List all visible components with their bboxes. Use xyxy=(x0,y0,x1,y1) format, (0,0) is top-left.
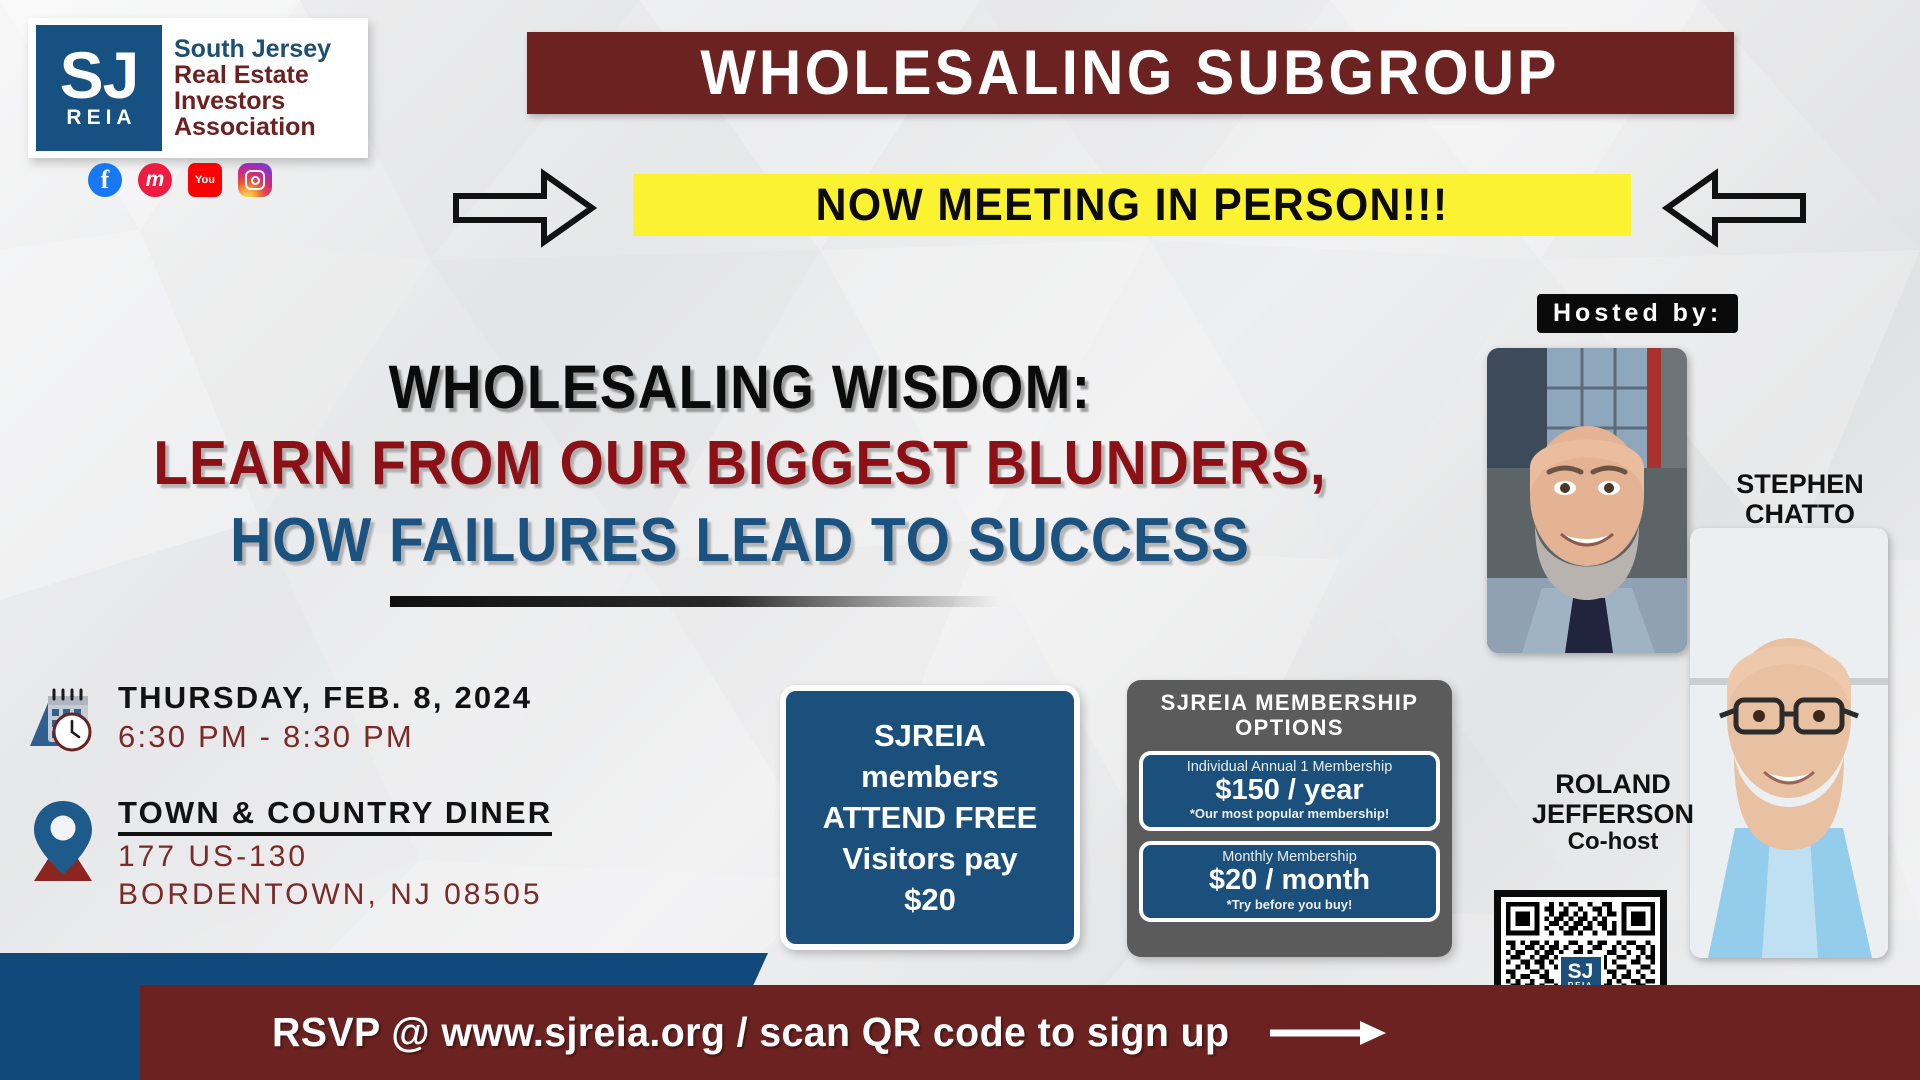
rsvp-banner[interactable]: RSVP @ www.sjreia.org / scan QR code to … xyxy=(140,985,1920,1080)
youtube-icon[interactable]: You xyxy=(188,163,222,197)
membership-tier-monthly[interactable]: Monthly Membership $20 / month *Try befo… xyxy=(1139,841,1440,922)
logo-wordmark: South Jersey Real Estate Investors Assoc… xyxy=(162,36,331,140)
event-date: THURSDAY, FEB. 8, 2024 xyxy=(118,680,532,716)
logo-mark-initials: SJ xyxy=(60,46,139,104)
price-line-3: ATTEND FREE xyxy=(823,800,1038,836)
facebook-icon[interactable]: f xyxy=(88,163,122,197)
instagram-glyph xyxy=(245,170,265,190)
venue-city: BORDENTOWN, NJ 08505 xyxy=(118,878,552,912)
social-links: f m You xyxy=(88,163,272,197)
price-line-5: $20 xyxy=(904,882,956,918)
price-line-4: Visitors pay xyxy=(842,841,1017,877)
price-line-2: members xyxy=(861,759,999,795)
flyer-canvas: SJ REIA South Jersey Real Estate Investo… xyxy=(0,0,1920,1080)
meetup-icon[interactable]: m xyxy=(138,163,172,197)
tier-annual-price: $150 / year xyxy=(1149,775,1430,807)
membership-title-line-2: OPTIONS xyxy=(1139,715,1440,740)
tier-monthly-note: *Try before you buy! xyxy=(1149,897,1430,912)
host-1-first-name: STEPHEN xyxy=(1700,470,1900,500)
host-2-last-name: JEFFERSON xyxy=(1520,800,1706,830)
logo-word-line-2: Real Estate xyxy=(174,62,331,88)
title-divider xyxy=(390,596,1000,607)
host-2-role: Co-host xyxy=(1520,829,1706,855)
host-1-last-name: CHATTO xyxy=(1700,500,1900,530)
event-location: TOWN & COUNTRY DINER 177 US-130 BORDENTO… xyxy=(24,795,552,912)
now-meeting-text: NOW MEETING IN PERSON!!! xyxy=(816,179,1449,231)
instagram-icon[interactable] xyxy=(238,163,272,197)
host-name-stephen-chatto: STEPHEN CHATTO xyxy=(1700,470,1900,529)
event-title: WHOLESALING WISDOM: LEARN FROM OUR BIGGE… xyxy=(0,352,1480,576)
tier-monthly-price: $20 / month xyxy=(1149,865,1430,897)
logo-mark: SJ REIA xyxy=(36,25,162,151)
tier-annual-label: Individual Annual 1 Membership xyxy=(1149,759,1430,775)
membership-title-line-1: SJREIA MEMBERSHIP xyxy=(1139,690,1440,715)
logo-word-line-4: Association xyxy=(174,114,331,140)
subgroup-banner: WHOLESALING SUBGROUP xyxy=(527,32,1734,114)
arrow-right-icon xyxy=(452,168,597,248)
instagram-lens xyxy=(251,176,260,185)
logo-mark-reia: REIA xyxy=(61,106,136,130)
event-datetime: THURSDAY, FEB. 8, 2024 6:30 PM - 8:30 PM xyxy=(24,680,532,757)
host-2-first-name: ROLAND xyxy=(1520,770,1706,800)
venue-street: 177 US-130 xyxy=(118,840,552,874)
price-line-1: SJREIA xyxy=(874,718,986,754)
attendance-price-box: SJREIA members ATTEND FREE Visitors pay … xyxy=(780,685,1080,950)
now-meeting-banner: NOW MEETING IN PERSON!!! xyxy=(633,174,1631,236)
calendar-clock-icon xyxy=(24,680,102,757)
logo-word-line-3: Investors xyxy=(174,88,331,114)
qr-logo-initials: SJ xyxy=(1568,963,1594,982)
arrow-left-icon xyxy=(1662,168,1807,248)
event-time: 6:30 PM - 8:30 PM xyxy=(118,719,532,755)
membership-tier-annual[interactable]: Individual Annual 1 Membership $150 / ye… xyxy=(1139,751,1440,832)
host-photo-roland-jefferson xyxy=(1690,528,1888,958)
tier-monthly-label: Monthly Membership xyxy=(1149,849,1430,865)
location-pin-icon xyxy=(24,795,102,912)
sjreia-logo[interactable]: SJ REIA South Jersey Real Estate Investo… xyxy=(28,18,368,158)
event-title-line-2: LEARN FROM OUR BIGGEST BLUNDERS, xyxy=(59,428,1421,499)
venue-name: TOWN & COUNTRY DINER xyxy=(118,795,552,836)
rsvp-text: RSVP @ www.sjreia.org / scan QR code to … xyxy=(272,1009,1230,1056)
membership-options-box: SJREIA MEMBERSHIP OPTIONS Individual Ann… xyxy=(1127,680,1452,957)
subgroup-banner-text: WHOLESALING SUBGROUP xyxy=(701,37,1560,109)
hosted-by-label: Hosted by: xyxy=(1537,294,1738,333)
event-title-line-3: HOW FAILURES LEAD TO SUCCESS xyxy=(59,505,1421,576)
host-name-roland-jefferson: ROLAND JEFFERSON Co-host xyxy=(1520,770,1706,856)
logo-word-line-1: South Jersey xyxy=(174,36,331,62)
arrow-long-right-icon xyxy=(1268,1016,1388,1050)
event-title-line-1: WHOLESALING WISDOM: xyxy=(74,352,1406,422)
tier-annual-note: *Our most popular membership! xyxy=(1149,806,1430,821)
host-photo-stephen-chatto xyxy=(1487,348,1687,653)
